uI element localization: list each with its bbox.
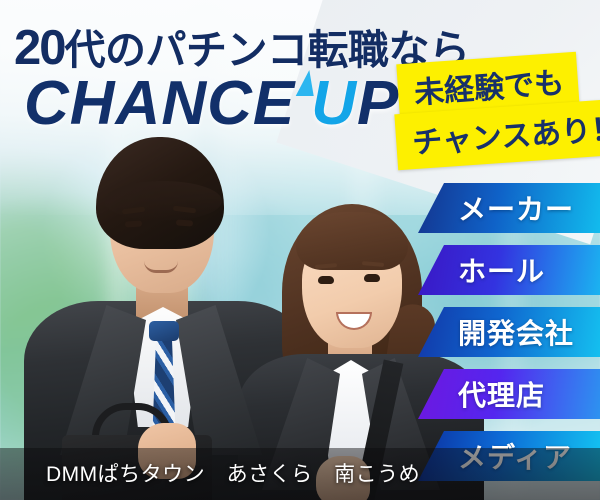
category-label: メーカー <box>418 188 574 228</box>
businesswoman-bangs <box>296 212 408 270</box>
businessman-tie-knot <box>149 321 179 341</box>
logo-letter-u: U <box>311 69 357 138</box>
category-button-maker[interactable]: メーカー <box>418 183 600 233</box>
logo-word-chance: CHANCE <box>24 69 295 138</box>
businessman-hair <box>96 137 224 249</box>
businessman-eye-left <box>125 220 142 227</box>
category-button-hall[interactable]: ホール <box>418 245 600 295</box>
chance-up-logo: CHANCEUP <box>24 73 399 135</box>
category-button-development-company[interactable]: 開発会社 <box>418 307 600 357</box>
category-label: 開発会社 <box>418 312 574 352</box>
businesswoman-eye-left <box>318 276 334 284</box>
advertisement-banner[interactable]: 20代のパチンコ転職なら CHANCEUP 未経験でも チャンスあり！ メーカー… <box>0 0 600 500</box>
businesswoman-eye-right <box>364 274 380 282</box>
category-button-agency[interactable]: 代理店 <box>418 369 600 419</box>
businessman-eye-right <box>176 219 193 226</box>
logo-letter-p: P <box>357 69 399 138</box>
headline-number: 20 <box>14 21 65 75</box>
caption-credits: DMMぱちタウン あさくら 南こうめ <box>46 458 420 488</box>
